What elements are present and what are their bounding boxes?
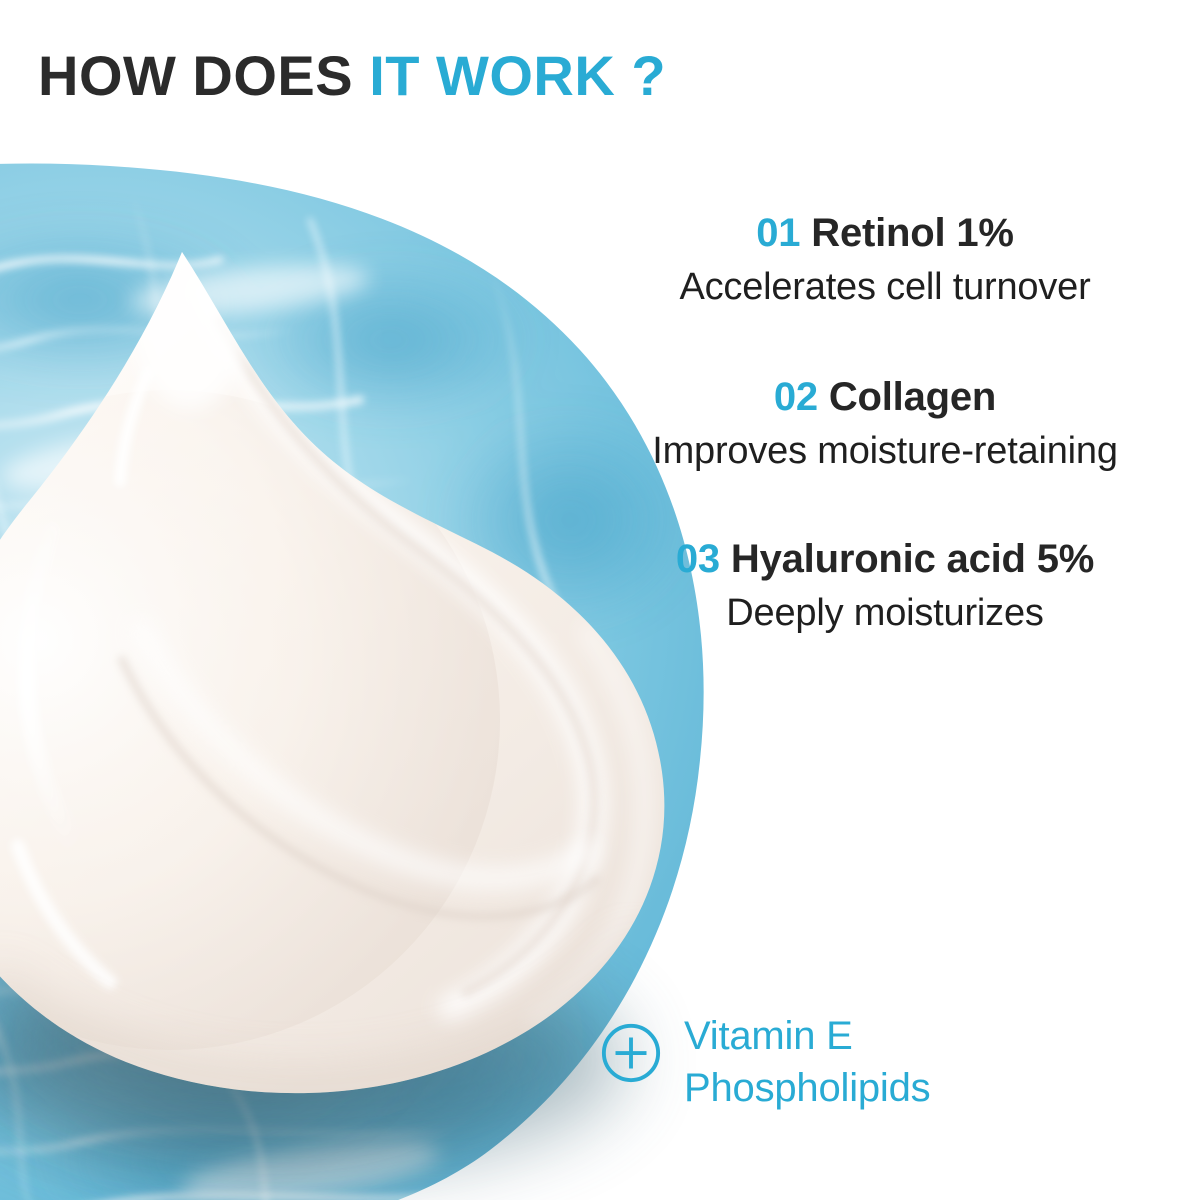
ingredient-title: 02 Collagen bbox=[600, 374, 1170, 421]
ingredient-item: 01 Retinol 1% Accelerates cell turnover bbox=[600, 210, 1170, 312]
ingredient-title: 03 Hyaluronic acid 5% bbox=[600, 536, 1170, 583]
ingredient-title: 01 Retinol 1% bbox=[600, 210, 1170, 257]
bonus-text: Vitamin E Phospholipids bbox=[684, 1010, 930, 1114]
bonus-line-2: Phospholipids bbox=[684, 1062, 930, 1114]
ingredient-name: Hyaluronic acid 5% bbox=[731, 537, 1094, 581]
bonus-line-1: Vitamin E bbox=[684, 1010, 930, 1062]
ingredient-number: 01 bbox=[756, 211, 800, 255]
ingredient-list: 01 Retinol 1% Accelerates cell turnover … bbox=[600, 210, 1170, 659]
page-title-accent: IT WORK ? bbox=[369, 44, 666, 107]
poster-root: HOW DOES IT WORK ? bbox=[0, 0, 1200, 1200]
ingredient-item: 03 Hyaluronic acid 5% Deeply moisturizes bbox=[600, 536, 1170, 638]
page-title: HOW DOES IT WORK ? bbox=[38, 48, 666, 104]
ingredient-description: Improves moisture-retaining bbox=[600, 427, 1170, 476]
ingredient-name: Collagen bbox=[829, 375, 996, 419]
ingredient-description: Accelerates cell turnover bbox=[600, 263, 1170, 312]
plus-circle-icon bbox=[600, 1022, 662, 1084]
ingredient-description: Deeply moisturizes bbox=[600, 589, 1170, 638]
bonus-ingredient: Vitamin E Phospholipids bbox=[600, 1010, 1170, 1114]
ingredient-number: 02 bbox=[774, 375, 818, 419]
ingredient-item: 02 Collagen Improves moisture-retaining bbox=[600, 374, 1170, 476]
page-title-dark: HOW DOES bbox=[38, 44, 369, 107]
ingredient-number: 03 bbox=[676, 537, 720, 581]
ingredient-name: Retinol 1% bbox=[811, 211, 1013, 255]
